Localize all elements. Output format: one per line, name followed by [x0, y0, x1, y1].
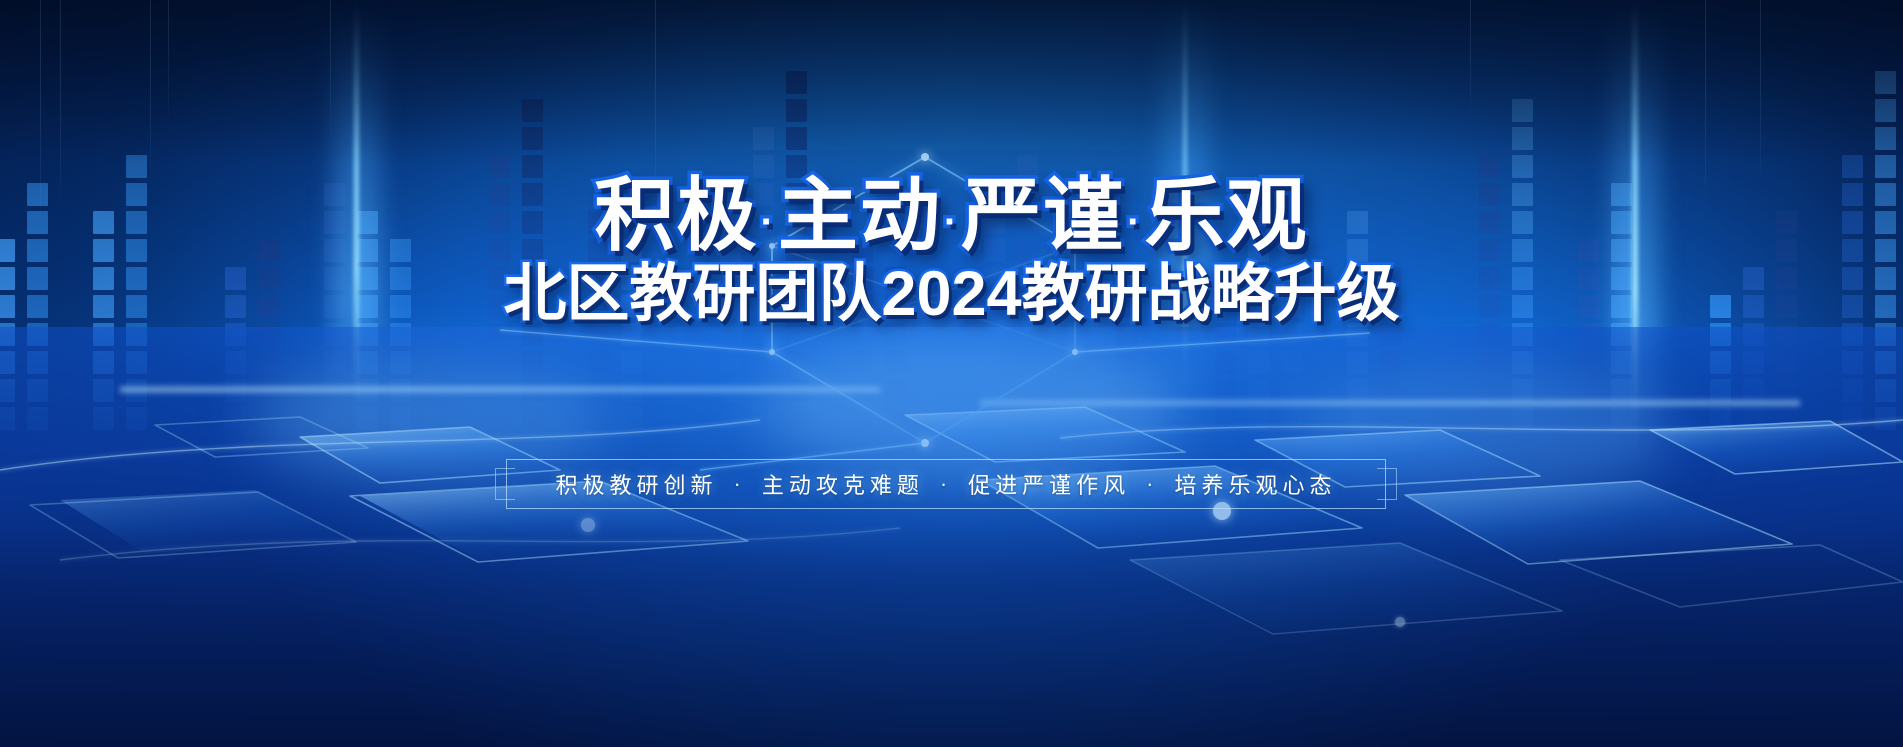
subtitle-item-3: 促进严谨作风	[966, 468, 1132, 500]
headline-separator-2: ·	[942, 200, 961, 244]
banner-root: 积极·主动·严谨·乐观 北区教研团队2024教研战略升级 积极教研创新 · 主动…	[0, 0, 1903, 747]
headline-word-1: 积极	[595, 171, 759, 260]
subtitle-frame: 积极教研创新 · 主动攻克难题 · 促进严谨作风 · 培养乐观心态	[506, 459, 1386, 509]
headline-word-3: 严谨	[961, 171, 1125, 260]
headline-separator-3: ·	[1125, 200, 1144, 244]
headline-separator-1: ·	[759, 200, 778, 244]
headline-primary: 积极·主动·严谨·乐观	[0, 172, 1903, 260]
subtitle-separator-3: ·	[1132, 471, 1172, 497]
background-vignette	[0, 0, 1903, 747]
subtitle-item-2: 主动攻克难题	[760, 468, 926, 500]
headline-secondary: 北区教研团队2024教研战略升级	[0, 258, 1903, 330]
headline-word-2: 主动	[778, 171, 942, 260]
subtitle-separator-2: ·	[926, 471, 966, 497]
headline-word-4: 乐观	[1144, 171, 1308, 260]
subtitle-text: 积极教研创新 · 主动攻克难题 · 促进严谨作风 · 培养乐观心态	[506, 459, 1386, 509]
subtitle-item-1: 积极教研创新	[553, 468, 719, 500]
subtitle-item-4: 培养乐观心态	[1173, 468, 1339, 500]
subtitle-separator-1: ·	[719, 471, 759, 497]
